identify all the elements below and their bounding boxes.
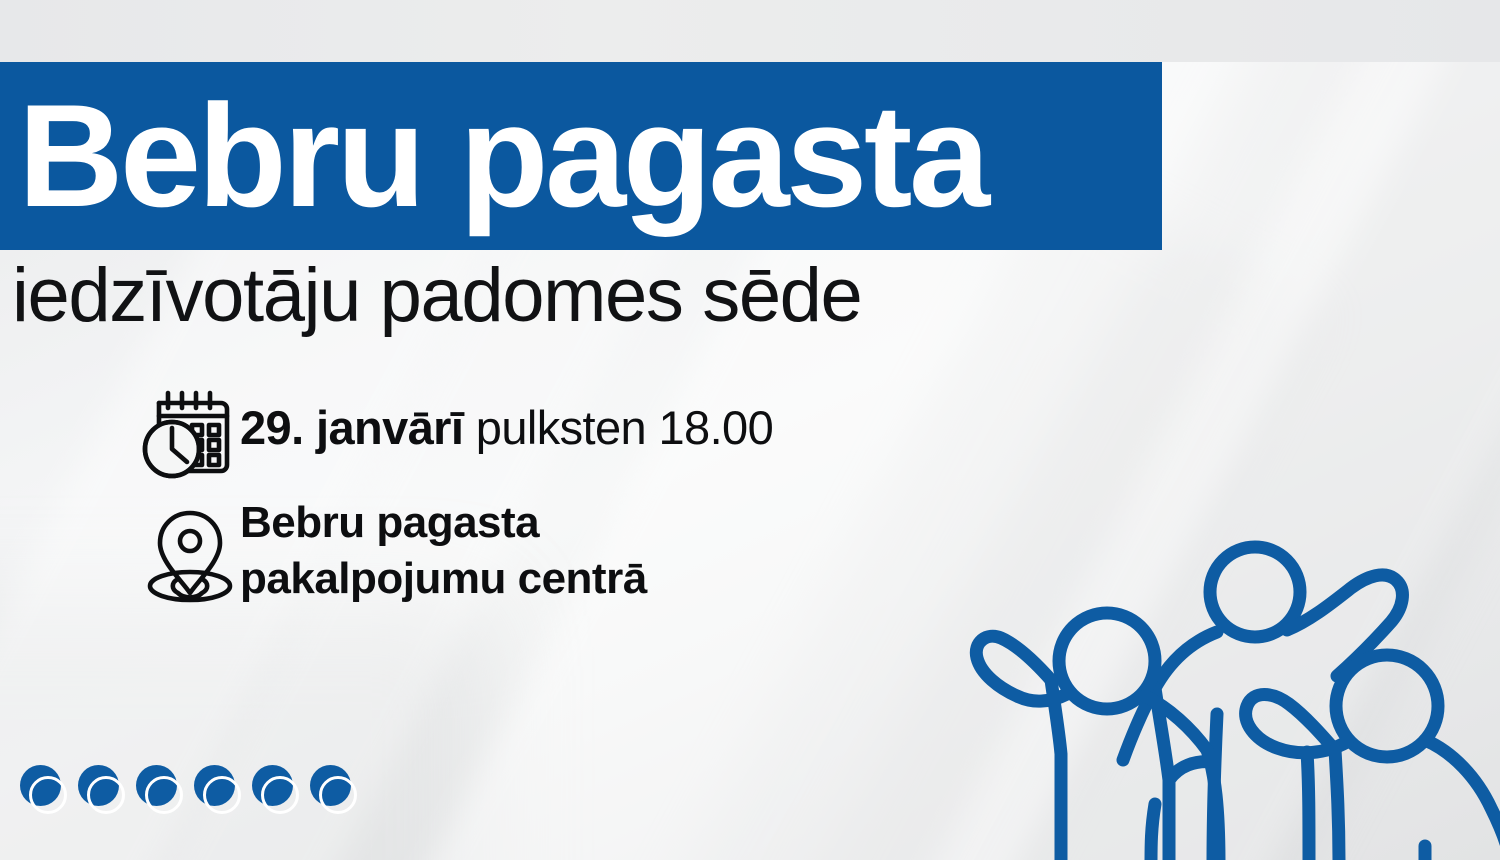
- circle-outline: [29, 776, 67, 814]
- page-subtitle: iedzīvotāju padomes sēde: [12, 256, 861, 336]
- calendar-clock-icon: [140, 385, 240, 483]
- circle-pair: [20, 765, 72, 819]
- circle-outline: [87, 776, 125, 814]
- circle-outline: [261, 776, 299, 814]
- circle-outline: [319, 776, 357, 814]
- map-pin-icon: [140, 495, 240, 605]
- circle-pair: [252, 765, 304, 819]
- circle-outline: [203, 776, 241, 814]
- page-title: Bebru pagasta: [18, 62, 1158, 250]
- event-time-text: pulksten 18.00: [463, 401, 773, 454]
- circle-pair: [78, 765, 130, 819]
- circle-pair: [194, 765, 246, 819]
- people-right-figure: [955, 516, 1500, 860]
- circle-outline: [145, 776, 183, 814]
- event-location-line-1: Bebru pagasta: [240, 495, 647, 551]
- circle-pair: [310, 765, 362, 819]
- event-date-text: 29. janvārī pulksten 18.00: [240, 385, 773, 454]
- event-date-row: 29. janvārī pulksten 18.00: [140, 385, 773, 483]
- event-location-row: Bebru pagasta pakalpojumu centrā: [140, 495, 647, 608]
- event-date-strong: 29. janvārī: [240, 401, 463, 454]
- poster-canvas: Bebru pagasta iedzīvotāju padomes sēde: [0, 0, 1500, 860]
- background-top-strip: [0, 0, 1500, 62]
- circle-pair: [136, 765, 188, 819]
- event-location-text: Bebru pagasta pakalpojumu centrā: [240, 495, 647, 608]
- event-location-line-2: pakalpojumu centrā: [240, 551, 647, 607]
